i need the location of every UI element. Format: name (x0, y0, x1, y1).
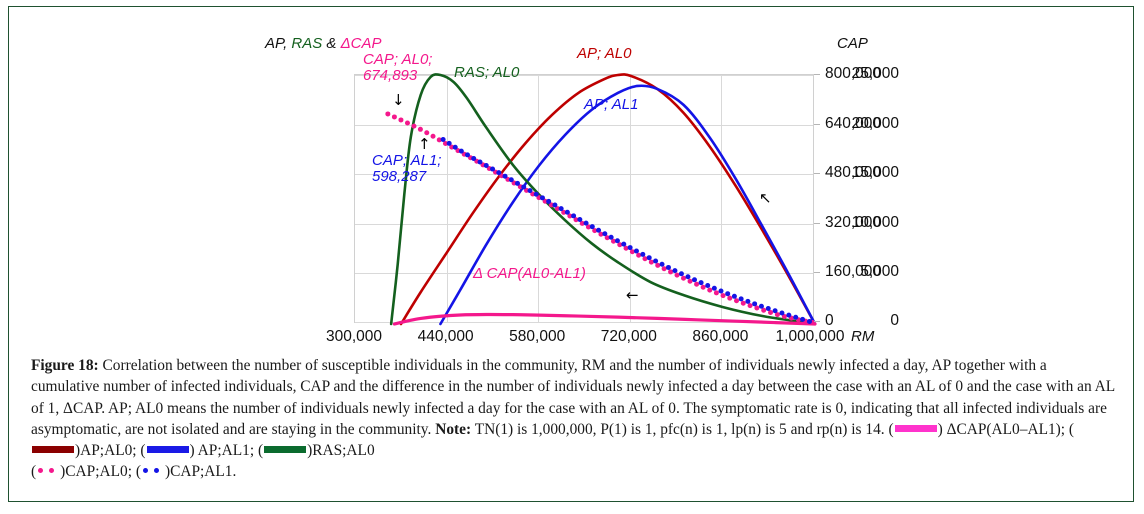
legend-text-ap-al0: )AP;AL0; ( (75, 442, 146, 459)
series-dot (773, 308, 778, 313)
arrow-up-cap-al1-icon: ↑ (418, 137, 431, 152)
series-dot (471, 156, 476, 161)
tick-mark-640000 (814, 124, 820, 125)
xtick-300000: 300,000 (326, 328, 382, 346)
series-dot (385, 111, 390, 116)
ytick-right-640000: 640,000 (825, 115, 921, 133)
series-dot (459, 149, 464, 154)
legend-text-cap-al0: )CAP;AL0; ( (60, 463, 141, 480)
series-dot (405, 120, 410, 125)
series-dot (752, 301, 757, 306)
legend-dots-cap-al1 (142, 466, 164, 475)
series-value-cap-al0: 674,893 (363, 67, 417, 84)
series-dot (793, 315, 798, 320)
legend-dots-cap-al0 (37, 466, 59, 475)
series-value-cap-al1: 598,287 (372, 168, 426, 185)
series-dot (431, 134, 436, 139)
ytick-right-480000: 480,000 (825, 164, 921, 182)
ytick-right-320000: 320,000 (825, 214, 921, 232)
legend-swatch-ras-al0 (264, 446, 306, 453)
series-label-cap-al0: CAP; AL0; 674,893 (363, 52, 432, 84)
series-dot (732, 294, 737, 299)
caption-note-label: Note: (435, 421, 471, 438)
series-dot (509, 177, 514, 182)
series-dot (609, 235, 614, 240)
series-dot (725, 291, 730, 296)
series-dot (552, 203, 557, 208)
series-dot (565, 210, 570, 215)
series-dot (721, 293, 726, 298)
tick-mark-480000 (814, 173, 820, 174)
series-dot (675, 273, 680, 278)
series-dot (701, 285, 706, 290)
series-dot (668, 269, 673, 274)
series-dot (779, 310, 784, 315)
series-dot (621, 242, 626, 247)
series-dot (692, 277, 697, 282)
series-dot (741, 301, 746, 306)
series-dot (662, 266, 667, 271)
series-dot (503, 174, 508, 179)
series-dot (628, 245, 633, 250)
x-axis-title: RM (851, 328, 874, 345)
series-dot (647, 255, 652, 260)
caption-line-5: TN(1) is 1,000,000, P(1) is 1, pfc(n) is… (475, 421, 894, 438)
series-dot (685, 274, 690, 279)
ytick-right-800000: 800,000 (825, 65, 921, 83)
series-dot (688, 279, 693, 284)
series-dot (534, 192, 539, 197)
legend-text-cap-al1: )CAP;AL1. (165, 463, 236, 480)
arrow-to-ap-curves-icon: ↖ (759, 191, 772, 206)
series-dot (699, 280, 704, 285)
series-label-cap-al1-text: CAP; AL1; (372, 152, 441, 169)
series-dot (453, 145, 458, 150)
series-dot (584, 221, 589, 226)
series-dot (660, 262, 665, 267)
legend-text-dcap: ) ΔCAP(AL0–AL1); ( (938, 421, 1074, 438)
series-label-cap-al1: CAP; AL1; 598,287 (372, 153, 441, 185)
series-dot (734, 298, 739, 303)
series-dot (465, 152, 470, 157)
series-dot (642, 256, 647, 261)
series-label-ap-al1: AP; AL1 (584, 97, 638, 113)
caption-line-1: Correlation between the number of suscep… (103, 357, 929, 374)
series-dot (590, 224, 595, 229)
series-dot (759, 304, 764, 309)
legend-swatch-ap-al1 (147, 446, 189, 453)
series-line--cap-al0-al1- (394, 314, 815, 324)
series-dot (800, 317, 805, 322)
series-dot (636, 253, 641, 258)
series-dot (596, 228, 601, 233)
series-dot (739, 296, 744, 301)
series-dot (546, 199, 551, 204)
legend-text-ap-al1: ) AP;AL1; ( (190, 442, 264, 459)
series-dot (515, 181, 520, 186)
series-dot (655, 263, 660, 268)
series-dot (719, 289, 724, 294)
series-dot (681, 276, 686, 281)
series-dot (714, 290, 719, 295)
series-dot (577, 217, 582, 222)
series-dot (640, 252, 645, 257)
series-dot (418, 127, 423, 132)
arrow-down-cap-al0-icon: ↓ (392, 93, 405, 108)
series-dot (745, 299, 750, 304)
legend-open-paren-cap-al0: ( (31, 463, 36, 480)
series-dot (527, 188, 532, 193)
tick-mark-800000 (814, 74, 820, 75)
series-dot (398, 117, 403, 122)
series-dot (602, 231, 607, 236)
xtick-720000: 720,000 (601, 328, 657, 346)
series-dot (447, 141, 452, 146)
tick-mark-160000 (814, 272, 820, 273)
series-dot (571, 213, 576, 218)
series-label-ras-al0: RAS; AL0 (454, 65, 519, 81)
series-dot (477, 160, 482, 165)
series-dot (666, 265, 671, 270)
series-dot (707, 288, 712, 293)
figure-caption: Figure 18: Correlation between the numbe… (31, 355, 1117, 483)
series-dot (496, 170, 501, 175)
series-label-ap-al0: AP; AL0 (577, 46, 631, 62)
figure-frame: AP, RAS & ΔCAP CAP 25,000 20,000 1 (8, 6, 1134, 502)
series-label-cap-al0-text: CAP; AL0; (363, 51, 432, 68)
tick-mark-320000 (814, 223, 820, 224)
legend-swatch-dcap (895, 425, 937, 432)
series-dot (694, 282, 699, 287)
series-dot (615, 238, 620, 243)
series-dot (484, 163, 489, 168)
series-dot (521, 185, 526, 190)
series-dot (705, 283, 710, 288)
legend-text-ras-al0: )RAS;AL0 (307, 442, 375, 459)
series-dot (786, 313, 791, 318)
xtick-440000: 440,000 (418, 328, 474, 346)
series-dot (679, 271, 684, 276)
xtick-580000: 580,000 (509, 328, 565, 346)
series-dot (559, 206, 564, 211)
series-dot (441, 137, 446, 142)
series-dot (653, 259, 658, 264)
series-label-dcap: Δ CAP(AL0-AL1) (473, 266, 586, 282)
series-dot (490, 167, 495, 172)
series-dot (392, 114, 397, 119)
xtick-1000000: 1,000,000 (776, 328, 845, 346)
series-dot (712, 286, 717, 291)
series-dot (634, 248, 639, 253)
tick-mark-0 (814, 321, 820, 322)
series-dot (748, 303, 753, 308)
left-axis-title: AP, RAS & ΔCAP (265, 35, 382, 52)
series-dot (649, 260, 654, 265)
series-dot (766, 306, 771, 311)
legend-swatch-ap-al0 (32, 446, 74, 453)
chart-area: AP, RAS & ΔCAP CAP 25,000 20,000 1 (259, 13, 899, 348)
right-axis-title: CAP (837, 35, 868, 52)
ytick-right-160000: 160,000 (825, 263, 921, 281)
series-dot (411, 124, 416, 129)
arrow-to-dcap-curve-icon: ← (626, 288, 639, 303)
series-dot (672, 268, 677, 273)
series-dot (540, 195, 545, 200)
xtick-860000: 860,000 (692, 328, 748, 346)
caption-figure-label: Figure 18: (31, 357, 99, 374)
series-dot (727, 296, 732, 301)
